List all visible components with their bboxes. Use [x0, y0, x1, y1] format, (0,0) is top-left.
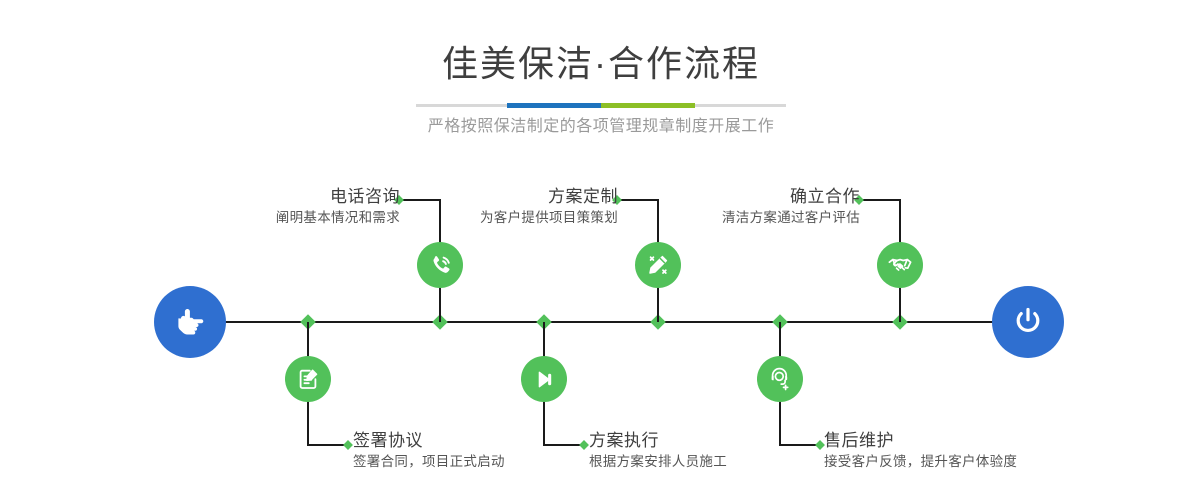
step-title-6: 售后维护: [824, 430, 1084, 452]
step-title-5: 确立合作: [660, 186, 860, 208]
step-node-6[interactable]: [757, 356, 803, 402]
connector-v2-step-2: [307, 412, 309, 445]
title-divider: [416, 104, 786, 107]
step-label-6: 售后维护 接受客户反馈，提升客户体验度: [824, 430, 1084, 472]
step-title-3: 方案定制: [418, 186, 618, 208]
step-label-2: 签署协议 签署合同，项目正式启动: [353, 430, 573, 472]
document-pen-icon: [295, 366, 322, 393]
step-node-4[interactable]: [521, 356, 567, 402]
header: 佳美保洁·合作流程 严格按照保洁制定的各项管理规章制度开展工作: [0, 0, 1202, 135]
connector-h-step-5: [858, 199, 900, 201]
step-node-3[interactable]: [635, 242, 681, 288]
step-desc-2: 签署合同，项目正式启动: [353, 452, 573, 472]
connector-v2-step-3: [657, 199, 659, 233]
step-title-4: 方案执行: [589, 430, 809, 452]
phone-ring-icon: [426, 251, 454, 279]
end-node[interactable]: [992, 286, 1064, 358]
step-desc-6: 接受客户反馈，提升客户体验度: [824, 452, 1084, 472]
pointing-hand-icon: [170, 302, 210, 342]
step-title-1: 电话咨询: [200, 186, 400, 208]
headset-support-icon: [767, 366, 794, 393]
pencil-design-icon: [644, 251, 672, 279]
play-execute-icon: [531, 366, 558, 393]
start-node[interactable]: [154, 286, 226, 358]
step-node-5[interactable]: [877, 242, 923, 288]
page-subtitle: 严格按照保洁制定的各项管理规章制度开展工作: [0, 119, 1202, 135]
step-desc-3: 为客户提供项目策策划: [418, 208, 618, 228]
divider-green-segment: [601, 103, 695, 108]
step-node-1[interactable]: [417, 242, 463, 288]
connector-v2-step-6: [779, 412, 781, 445]
divider-blue-segment: [507, 103, 601, 108]
connector-h-step-3: [616, 199, 658, 201]
connector-v2-step-4: [543, 412, 545, 445]
process-flow-infographic: 佳美保洁·合作流程 严格按照保洁制定的各项管理规章制度开展工作: [0, 0, 1202, 502]
handshake-icon: [886, 251, 914, 279]
step-label-5: 确立合作 清洁方案通过客户评估: [660, 186, 860, 228]
step-label-3: 方案定制 为客户提供项目策策划: [418, 186, 618, 228]
power-icon: [1009, 303, 1047, 341]
step-label-4: 方案执行 根据方案安排人员施工: [589, 430, 809, 472]
step-label-1: 电话咨询 阐明基本情况和需求: [200, 186, 400, 228]
connector-tick-step-2: [343, 440, 353, 450]
step-desc-1: 阐明基本情况和需求: [200, 208, 400, 228]
step-desc-5: 清洁方案通过客户评估: [660, 208, 860, 228]
page-title: 佳美保洁·合作流程: [0, 0, 1202, 82]
step-title-2: 签署协议: [353, 430, 573, 452]
step-desc-4: 根据方案安排人员施工: [589, 452, 809, 472]
connector-v2-step-5: [899, 199, 901, 233]
connector-tick-step-4: [579, 440, 589, 450]
step-node-2[interactable]: [285, 356, 331, 402]
